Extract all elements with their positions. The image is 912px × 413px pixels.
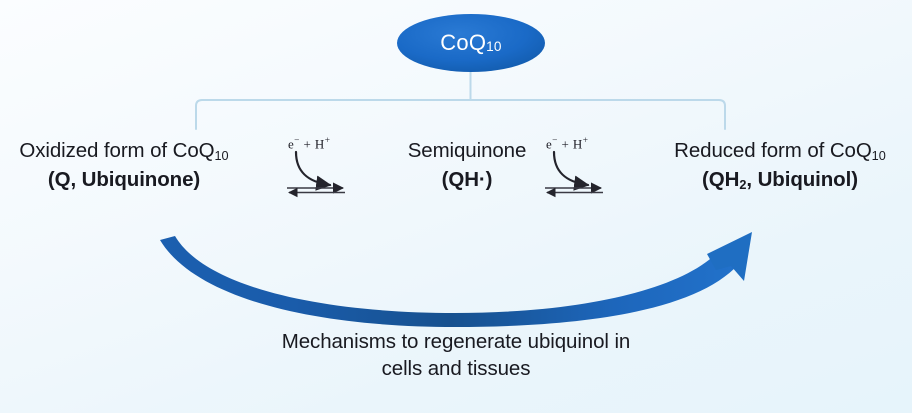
regeneration-caption-line1: Mechanisms to regenerate ubiquinol in	[156, 328, 756, 355]
regeneration-caption: Mechanisms to regenerate ubiquinol in ce…	[156, 328, 756, 383]
regeneration-arrow-body	[160, 236, 742, 327]
regeneration-caption-line2: cells and tissues	[156, 355, 756, 382]
coq10-redox-diagram: CoQ10 Oxidized form of CoQ10 (Q, Ubiquin…	[0, 0, 912, 413]
